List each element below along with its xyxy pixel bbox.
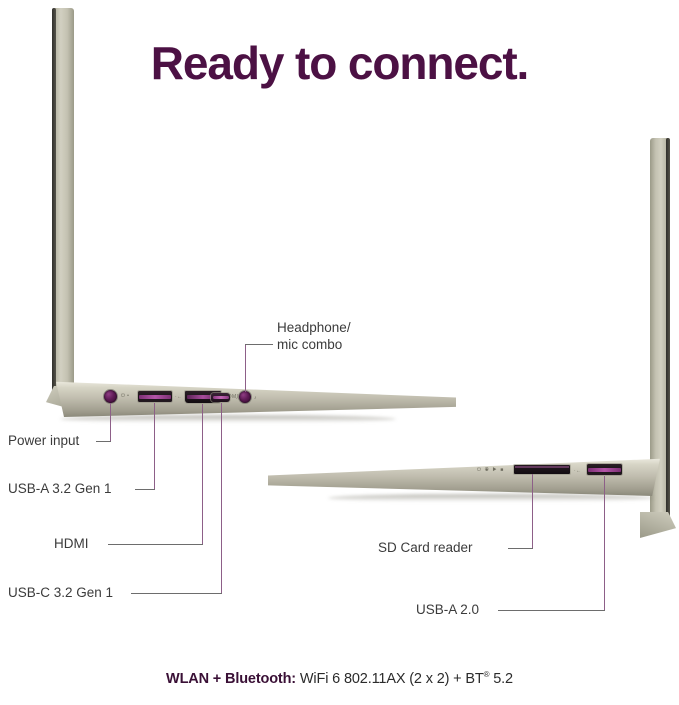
laptop-right-base-shadow xyxy=(328,494,654,502)
callout-power-input: Power input xyxy=(8,433,79,450)
callout-sd-card-reader: SD Card reader xyxy=(378,540,473,557)
leader-usba1-horizontal xyxy=(135,489,155,490)
laptop-left-lid xyxy=(52,8,74,400)
leader-power-horizontal xyxy=(96,441,111,442)
callout-usb-a-32-gen-1: USB-A 3.2 Gen 1 xyxy=(8,481,112,498)
headphone-glyph: ♪ xyxy=(254,396,257,401)
leader-usbc-vertical xyxy=(221,403,222,593)
leader-sd-vertical xyxy=(532,474,533,548)
wlan-bluetooth-spec-part1: WiFi 6 802.11AX (2 x 2) + BT xyxy=(300,671,484,687)
leader-sd-horizontal xyxy=(508,548,533,549)
leader-usba20-horizontal xyxy=(498,610,605,611)
wlan-bluetooth-caption: WLAN + Bluetooth: WiFi 6 802.11AX (2 x 2… xyxy=(0,670,679,687)
leader-usba20-vertical xyxy=(604,476,605,610)
usb-a-20-glyph: ⋅← xyxy=(574,469,581,474)
leader-hdmi-horizontal xyxy=(108,544,203,545)
leader-headphone-vertical xyxy=(245,344,246,392)
leader-hdmi-vertical xyxy=(202,404,203,544)
laptop-right-screen-edge xyxy=(666,138,670,528)
laptop-left-screen-edge xyxy=(52,8,56,400)
callout-hdmi: HDMI xyxy=(54,536,89,553)
laptop-right-hinge xyxy=(640,512,676,538)
port-sd-card-reader xyxy=(514,465,570,474)
status-indicator-glyphs: ⏻ ◉ ▶ ■ xyxy=(477,468,505,473)
port-headphone-mic-combo xyxy=(239,391,251,403)
callout-usb-c-32-gen-1: USB-C 3.2 Gen 1 xyxy=(8,585,113,602)
wlan-bluetooth-spec-part2: 5.2 xyxy=(493,671,513,687)
infographic-canvas: Ready to connect. ⏻ • ⋅← HDMI ⋅← ♪ Headp… xyxy=(0,0,679,705)
leader-usbc-horizontal xyxy=(131,593,222,594)
leader-power-vertical xyxy=(110,403,111,441)
port-usb-a-20 xyxy=(587,464,622,475)
registered-trademark-icon: ® xyxy=(484,670,490,679)
power-indicator-glyph: ⏻ • xyxy=(121,394,129,399)
leader-usba1-vertical xyxy=(154,403,155,489)
callout-usb-a-20: USB-A 2.0 xyxy=(416,602,479,619)
laptop-right-side-view: ⏻ ◉ ▶ ■ ⋅← xyxy=(262,60,679,505)
wlan-bluetooth-label: WLAN + Bluetooth: xyxy=(166,671,296,687)
usb-a-glyph: ⋅← xyxy=(175,395,182,400)
port-usb-a-32-gen-1 xyxy=(138,391,172,402)
port-usb-c-32-gen-1 xyxy=(211,393,230,402)
port-power-input xyxy=(104,390,117,403)
